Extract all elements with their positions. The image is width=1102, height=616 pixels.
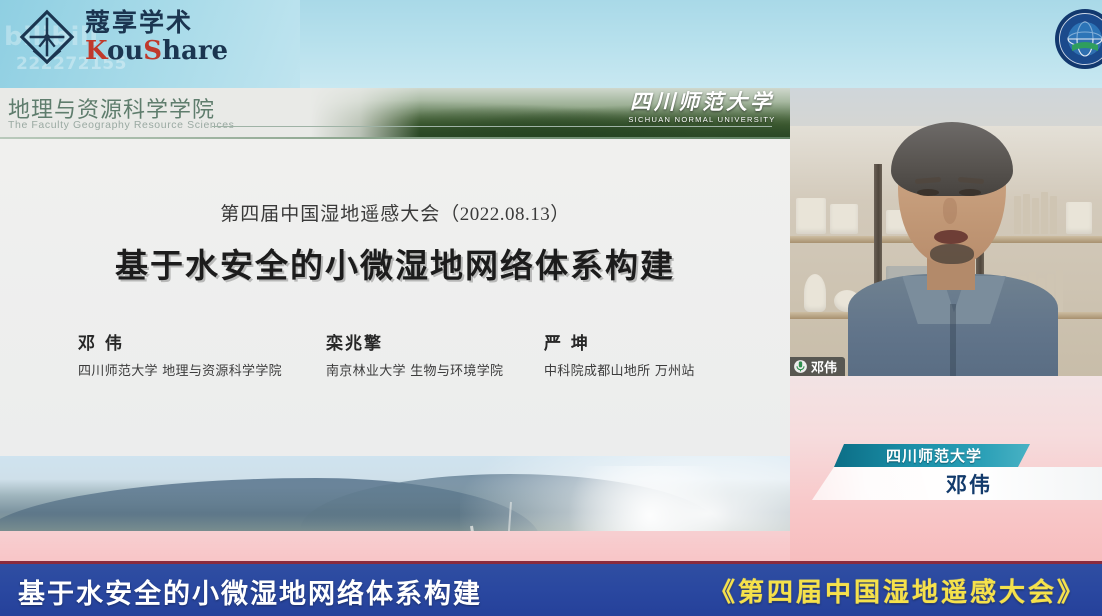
- microphone-icon[interactable]: [794, 359, 807, 374]
- speaker-hair: [891, 122, 1013, 196]
- author-list: 邓 伟 四川师范大学 地理与资源科学学院 栾兆擎 南京林业大学 生物与环境学院 …: [78, 329, 768, 379]
- slide-body: 第四届中国湿地遥感大会（2022.08.13） 基于水安全的小微湿地网络体系构建…: [0, 139, 790, 456]
- mouth: [934, 230, 968, 244]
- koushare-logo-text: 蔻享学术 KouShare: [85, 10, 228, 64]
- koushare-logo: 蔻享学术 KouShare: [18, 8, 228, 66]
- koushare-cn-name: 蔻享学术: [85, 10, 228, 35]
- conference-name: 第四届中国湿地遥感大会: [220, 203, 440, 225]
- koushare-en-k: K: [85, 36, 107, 66]
- speaker-portrait: [872, 118, 1032, 376]
- mist-overlay: [460, 456, 790, 531]
- author-name: 严 坤: [544, 329, 768, 354]
- aerial-landscape-photo: [0, 456, 790, 531]
- eye-left: [917, 189, 939, 196]
- shelf-vase: [804, 274, 826, 312]
- video-name-tag: 邓伟: [790, 357, 845, 376]
- koushare-en-s: S: [143, 36, 162, 66]
- shelf-box: [1066, 202, 1092, 234]
- video-participant-name: 邓伟: [811, 357, 837, 376]
- goatee: [930, 244, 974, 264]
- lower-third-speaker-name: 邓伟: [946, 469, 992, 499]
- shirt-placket: [950, 304, 956, 376]
- ticker-conference-title: 《第四届中国湿地遥感大会》: [709, 572, 1086, 609]
- university-name-cn: 四川师范大学: [622, 90, 782, 114]
- ticker-presentation-title: 基于水安全的小微湿地网络体系构建: [18, 572, 482, 611]
- nose: [943, 198, 957, 224]
- author-name: 栾兆擎: [326, 329, 544, 354]
- diamond-compass-icon: [18, 8, 76, 66]
- shelf-book: [1050, 196, 1057, 234]
- shelf-box: [830, 204, 858, 234]
- eye-right: [959, 189, 981, 196]
- university-emblem-icon: [1054, 8, 1102, 70]
- koushare-en-name: KouShare: [85, 38, 228, 64]
- university-name-en: SICHUAN NORMAL UNIVERSITY: [622, 115, 782, 124]
- conference-line: 第四届中国湿地遥感大会（2022.08.13）: [0, 199, 790, 226]
- author-affiliation: 四川师范大学 地理与资源科学学院: [78, 360, 326, 379]
- shelf-book: [1032, 198, 1039, 234]
- university-logo: 四川师范大学 SICHUAN NORMAL UNIVERSITY: [622, 90, 782, 136]
- author-affiliation: 南京林业大学 生物与环境学院: [326, 360, 544, 379]
- conference-date: （2022.08.13）: [440, 204, 570, 225]
- screen-capture-stage: bilibili 222272155 蔻享学术 KouShare: [0, 0, 1102, 616]
- slide-title: 基于水安全的小微湿地网络体系构建: [0, 239, 790, 287]
- author-entry: 邓 伟 四川师范大学 地理与资源科学学院: [78, 329, 326, 379]
- pink-filler-strip: [0, 531, 790, 561]
- lower-third-organization: 四川师范大学: [882, 445, 982, 466]
- koushare-en-ou: ou: [107, 36, 143, 66]
- koushare-en-hare: hare: [162, 36, 228, 66]
- lower-third-org-banner: 四川师范大学: [834, 444, 1030, 467]
- author-entry: 栾兆擎 南京林业大学 生物与环境学院: [326, 329, 544, 379]
- lower-third-name-banner: 邓伟: [812, 467, 1102, 500]
- bottom-ticker-bar: 基于水安全的小微湿地网络体系构建 《第四届中国湿地遥感大会》: [0, 561, 1102, 616]
- shelf-book: [1041, 192, 1048, 234]
- author-name: 邓 伟: [78, 329, 326, 354]
- speaker-video-tile[interactable]: 邓伟: [790, 88, 1102, 376]
- author-entry: 严 坤 中科院成都山地所 万州站: [544, 329, 768, 379]
- author-affiliation: 中科院成都山地所 万州站: [544, 360, 768, 379]
- lower-third-overlay: 四川师范大学 邓伟: [812, 444, 1102, 500]
- faculty-name-en: The Faculty Geography Resource Sciences: [8, 119, 235, 131]
- shared-slide: 地理与资源科学学院 The Faculty Geography Resource…: [0, 88, 790, 531]
- shelf-box: [796, 198, 826, 234]
- slide-banner: 地理与资源科学学院 The Faculty Geography Resource…: [0, 88, 790, 139]
